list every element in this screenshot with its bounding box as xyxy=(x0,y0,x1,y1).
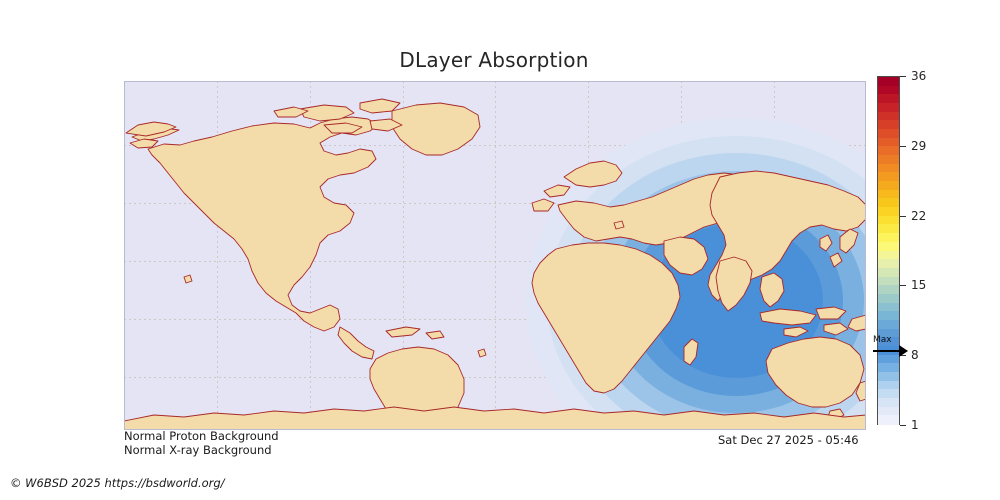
max-arrow-shaft xyxy=(873,350,901,352)
colorbar-tick-label: 29 xyxy=(911,139,926,153)
colorbar-segment xyxy=(878,415,899,424)
timestamp: Sat Dec 27 2025 - 05:46 xyxy=(718,433,859,447)
page-title: DLayer Absorption xyxy=(0,48,988,72)
colorbar-tick-label: 1 xyxy=(911,418,919,432)
colorbar-tick xyxy=(900,425,906,426)
colorbar-tick-label: 8 xyxy=(911,348,919,362)
coastlines-layer xyxy=(124,81,866,430)
max-marker: Max xyxy=(869,335,909,361)
colorbar-tick xyxy=(900,216,906,217)
colorbar[interactable] xyxy=(877,76,900,425)
max-marker-label: Max xyxy=(873,335,892,345)
world-map-panel[interactable] xyxy=(124,81,866,430)
colorbar-tick xyxy=(900,285,906,286)
copyright-notice: © W6BSD 2025 https://bsdworld.org/ xyxy=(10,476,225,490)
colorbar-tick xyxy=(900,76,906,77)
xray-status: Normal X-ray Background xyxy=(124,443,272,457)
colorbar-tick-label: 22 xyxy=(911,209,926,223)
colorbar-tick-label: 36 xyxy=(911,69,926,83)
colorbar-tick xyxy=(900,146,906,147)
proton-status: Normal Proton Background xyxy=(124,429,279,443)
colorbar-tick-label: 15 xyxy=(911,278,926,292)
colorbar-ticks: 3629221581 xyxy=(900,76,960,425)
max-arrow-head-icon xyxy=(899,345,908,357)
figure-root: DLayer Absorption xyxy=(0,0,1000,500)
